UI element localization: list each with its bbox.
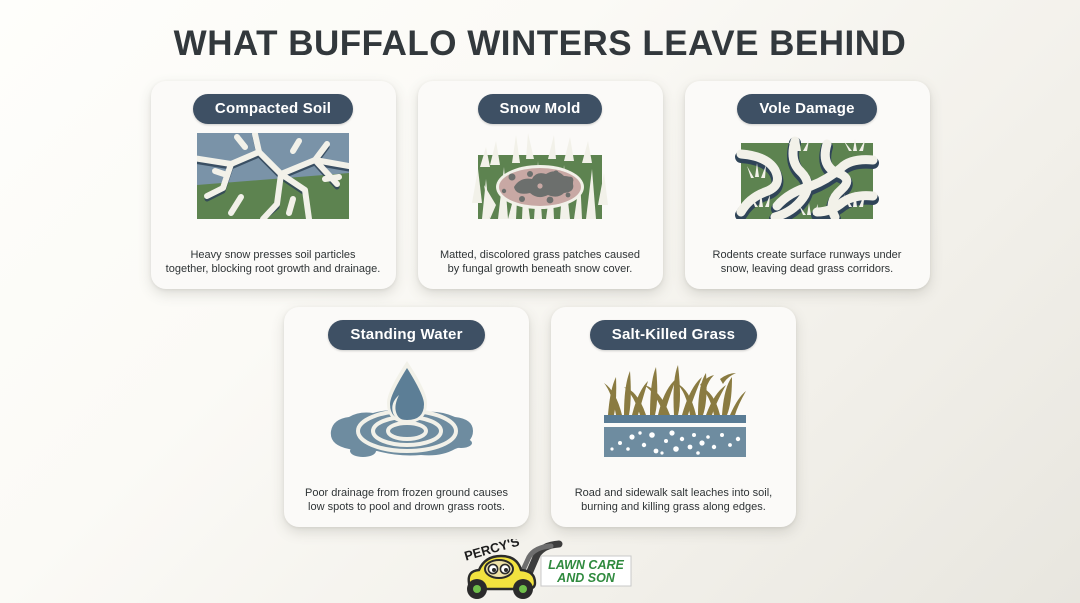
card-title-badge: Snow Mold (478, 94, 603, 124)
card-title-badge: Vole Damage (737, 94, 876, 124)
card-compacted-soil[interactable]: Compacted Soil (151, 81, 396, 289)
logo-banner-line2: AND SON (556, 571, 616, 585)
card-title-badge: Compacted Soil (193, 94, 353, 124)
card-description: Rodents create surface runways under sno… (709, 248, 906, 276)
salted-soil-grass-icon (594, 359, 754, 459)
card-standing-water[interactable]: Standing Water Poor draina (284, 307, 529, 527)
card-description: Road and sidewalk salt leaches into soil… (571, 486, 777, 514)
card-description: Poor drainage from frozen ground causes … (301, 486, 512, 514)
card-row-bottom: Standing Water Poor draina (284, 307, 796, 527)
logo-banner: LAWN CARE AND SON (541, 556, 631, 586)
card-title-badge: Salt-Killed Grass (590, 320, 757, 350)
lawn-mower-icon: PERCY'S LAWN CARE AND SON (447, 539, 633, 599)
logo-banner-line1: LAWN CARE (548, 558, 624, 572)
infographic-poster: WHAT BUFFALO WINTERS LEAVE BEHIND Compac… (0, 0, 1080, 603)
card-title-badge: Standing Water (328, 320, 484, 350)
vole-runway-trails-icon (731, 133, 883, 219)
water-droplet-puddle-icon (327, 359, 487, 459)
card-row-top: Compacted Soil (151, 81, 930, 289)
card-description: Heavy snow presses soil particles togeth… (162, 248, 385, 276)
company-logo[interactable]: PERCY'S LAWN CARE AND SON (447, 539, 633, 599)
card-salt-killed-grass[interactable]: Salt-Killed Grass (551, 307, 796, 527)
card-vole-damage[interactable]: Vole Damage (685, 81, 930, 289)
card-description: Matted, discolored grass patches caused … (436, 248, 644, 276)
cracked-soil-icon (197, 133, 349, 219)
moldy-grass-patch-icon (464, 133, 616, 219)
card-snow-mold[interactable]: Snow Mold (418, 81, 663, 289)
page-title: WHAT BUFFALO WINTERS LEAVE BEHIND (174, 24, 907, 64)
